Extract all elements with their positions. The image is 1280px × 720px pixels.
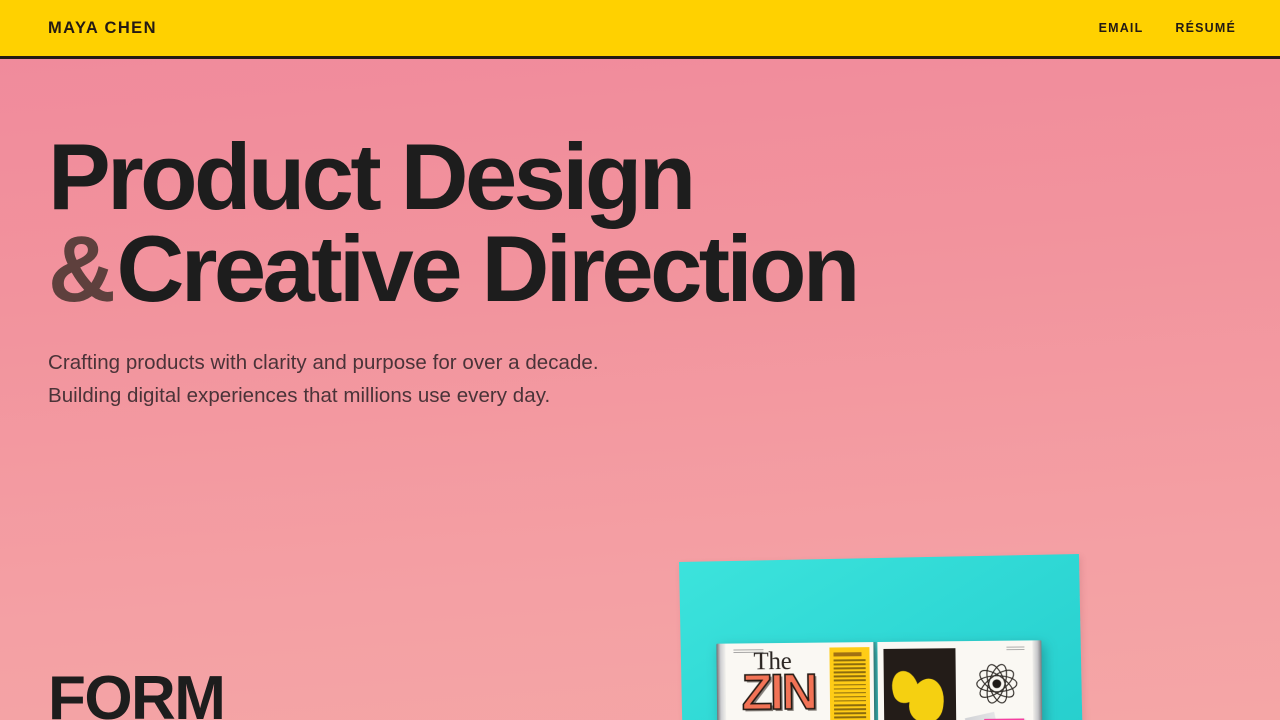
magazine-left-page: The ZIN [725, 642, 874, 720]
page-background: MAYA CHEN EMAIL RÉSUMÉ Product Design &C… [0, 0, 1280, 720]
site-header: MAYA CHEN EMAIL RÉSUMÉ [0, 0, 1280, 59]
atom-diagram-icon [974, 661, 1020, 707]
subtitle-line-1: Crafting products with clarity and purpo… [48, 347, 1232, 379]
sidebar-heading-bar [834, 652, 862, 656]
showcase-photo[interactable]: The ZIN [665, 552, 1095, 720]
section-heading-form: FORM [48, 668, 224, 720]
headline-line-2-text: Creative Direction [117, 216, 857, 321]
subtitle-line-2: Building digital experiences that millio… [48, 380, 1232, 412]
magazine-right-page [877, 640, 1033, 720]
magazine-folio-text [1006, 646, 1024, 650]
magazine-spread-image: The ZIN [716, 640, 1042, 720]
page-title: Product Design &Creative Direction [48, 131, 1232, 315]
nav-link-resume[interactable]: RÉSUMÉ [1175, 22, 1236, 35]
sidebar-text-lines [834, 659, 867, 720]
nav-link-email[interactable]: EMAIL [1099, 22, 1144, 35]
headline-line-1: Product Design [48, 131, 1232, 223]
magazine-yellow-sidebar [829, 647, 870, 720]
hero-section: Product Design &Creative Direction Craft… [0, 59, 1280, 412]
primary-nav: EMAIL RÉSUMÉ [1099, 22, 1236, 35]
ampersand-glyph: & [48, 216, 112, 321]
headline-line-2: &Creative Direction [48, 223, 1232, 315]
hero-subtitle: Crafting products with clarity and purpo… [48, 347, 1232, 412]
magazine-right-edge [1032, 640, 1042, 720]
magazine-title-display: ZIN [742, 667, 816, 718]
magazine-dark-photo-panel [883, 648, 956, 720]
brand-logo[interactable]: MAYA CHEN [48, 20, 157, 37]
magazine-right-column [961, 640, 1030, 720]
